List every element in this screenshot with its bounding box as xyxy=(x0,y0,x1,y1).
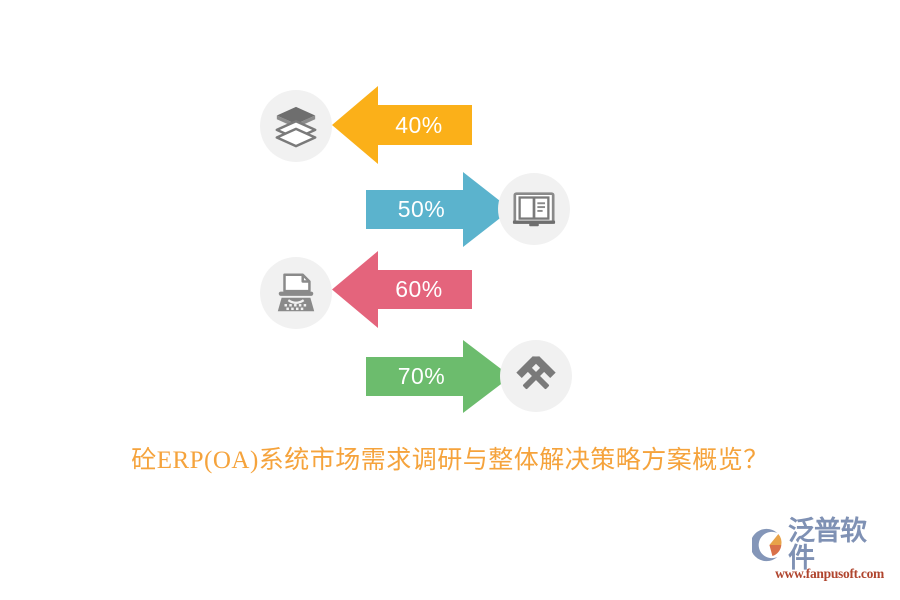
typewriter-icon xyxy=(273,270,319,316)
open-book-icon xyxy=(511,186,557,232)
page-title: 砼ERP(OA)系统市场需求调研与整体解决策略方案概览？ xyxy=(0,440,900,476)
arrow-step-1[interactable]: 40% xyxy=(332,86,472,164)
arrow-infographic: 40% 50% xyxy=(0,0,900,440)
arrow-step-4[interactable]: 70% xyxy=(366,340,511,413)
arrow-step-2[interactable]: 50% xyxy=(366,172,511,247)
logo-brand-text: 泛普软件 xyxy=(788,518,884,572)
logo-row: 泛普软件 xyxy=(752,526,884,564)
slide-canvas: 40% 50% xyxy=(0,0,900,600)
arrow-label-4: 70% xyxy=(398,363,446,390)
arrow-label-3: 60% xyxy=(395,276,443,303)
brand-logo[interactable]: 泛普软件 www.fanpusoft.com xyxy=(752,526,884,588)
logo-url-text: www.fanpusoft.com xyxy=(752,566,884,582)
icon-badge-hammers xyxy=(500,340,572,412)
icon-badge-books xyxy=(260,90,332,162)
arrow-step-3[interactable]: 60% xyxy=(332,251,472,328)
arrow-label-2: 50% xyxy=(398,196,446,223)
icon-badge-open-book xyxy=(498,173,570,245)
arrow-label-1: 40% xyxy=(395,112,443,139)
icon-badge-typewriter xyxy=(260,257,332,329)
crossed-hammers-icon xyxy=(513,353,559,399)
fanpu-arc-logo-icon xyxy=(752,528,786,562)
books-stack-icon xyxy=(273,103,319,149)
